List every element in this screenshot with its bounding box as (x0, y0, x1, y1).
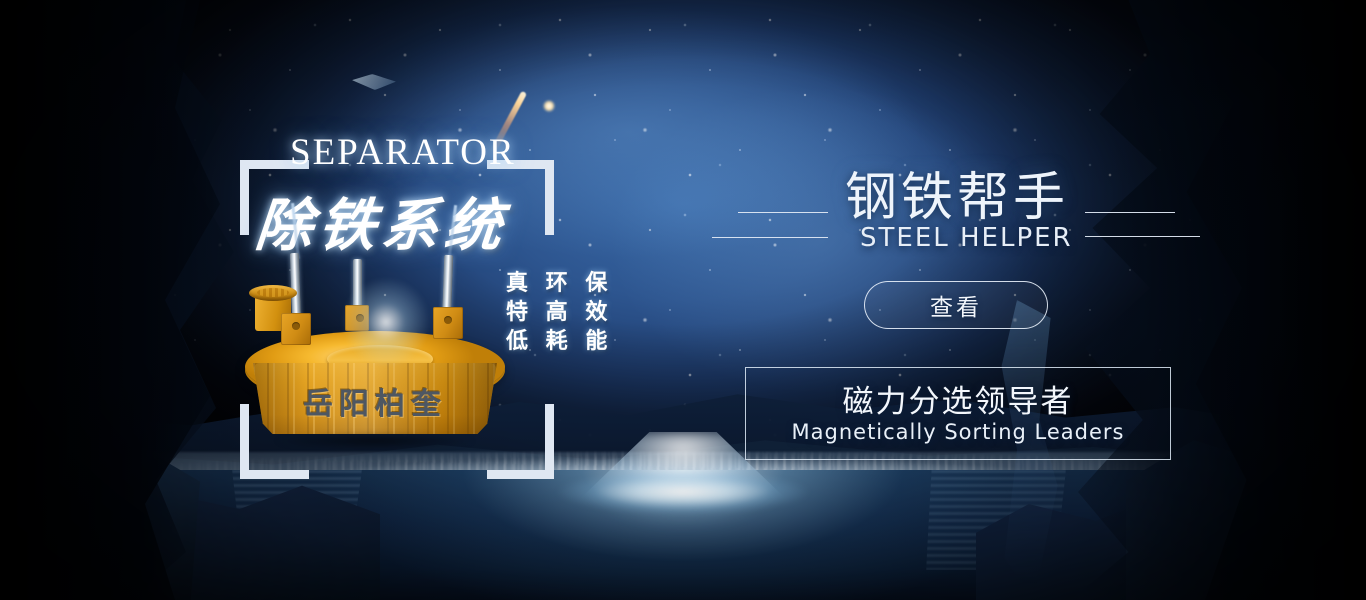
separator-body: 岳阳柏奎 (253, 363, 497, 437)
mount-pin (444, 316, 452, 324)
rule-bottom-left (712, 237, 828, 238)
hero-banner: SEPARATOR 除铁系统 岳阳柏奎 真 环 保 特 高 效 低 耗 能 钢铁… (0, 0, 1366, 600)
right-title-chinese: 钢铁帮手 (845, 155, 1069, 230)
meteor-head-icon (543, 100, 555, 112)
mount-pin (356, 314, 364, 322)
rule-bottom-right (1085, 236, 1200, 237)
mount-bracket-left (281, 313, 311, 345)
rule-top-right (1085, 212, 1175, 213)
slogan-line-2: 特 高 效 (506, 298, 612, 327)
slogan-line-1: 真 环 保 (506, 269, 612, 298)
view-button[interactable]: 查看 (864, 281, 1048, 329)
mount-bracket-center (345, 305, 369, 331)
right-title-english: STEEL HELPER (860, 223, 1073, 253)
claim-chinese: 磁力分选领导者 (746, 376, 1170, 421)
slogan-line-3: 低 耗 能 (506, 327, 612, 356)
claim-english: Magnetically Sorting Leaders (746, 420, 1170, 444)
junction-box-cap (249, 285, 297, 301)
product-magnetic-separator: 岳阳柏奎 (245, 255, 505, 440)
mount-bracket-right (433, 307, 463, 339)
eyebrow-separator: SEPARATOR (290, 131, 516, 174)
rule-top-left (738, 212, 828, 213)
horizon-glow (523, 462, 843, 522)
slogan-list: 真 环 保 特 高 效 低 耗 能 (506, 269, 612, 356)
mount-pin (292, 322, 300, 330)
product-ground-shadow (275, 433, 475, 449)
claim-box: 磁力分选领导者 Magnetically Sorting Leaders (745, 367, 1171, 460)
headline-chinese: 除铁系统 (252, 180, 511, 262)
product-brand-label: 岳阳柏奎 (253, 379, 497, 423)
